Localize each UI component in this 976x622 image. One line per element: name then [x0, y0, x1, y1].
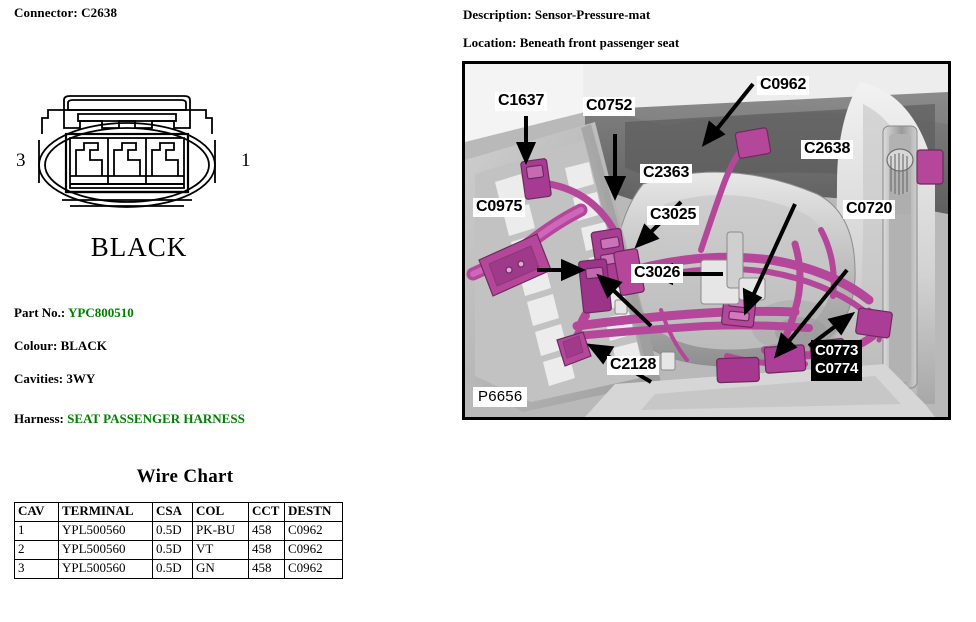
spec-part-no: Part No.: YPC800510 — [14, 305, 134, 321]
cell-csa: 0.5D — [153, 540, 193, 559]
column-header-cav: CAV — [15, 503, 59, 522]
spec-colour-label: Colour: — [14, 338, 57, 353]
photo-callout-c0720: C0720 — [843, 200, 895, 219]
cell-destn: C0962 — [285, 559, 343, 578]
photo-callout-c0774: C0774 — [815, 360, 858, 378]
spec-cavities-label: Cavities: — [14, 371, 63, 386]
table-row: 3 YPL500560 0.5D GN 458 C0962 — [15, 559, 343, 578]
column-header-destn: DESTN — [285, 503, 343, 522]
cell-destn: C0962 — [285, 540, 343, 559]
location-text: Location: Beneath front passenger seat — [463, 35, 679, 50]
photo-callout-c0962: C0962 — [757, 76, 809, 95]
photo-callout-c3026: C3026 — [631, 264, 683, 283]
description-line: Description: Sensor-Pressure-mat — [463, 7, 650, 23]
photo-illustration-svg — [465, 64, 948, 417]
photo-callout-c2363: C2363 — [640, 164, 692, 183]
cell-col: PK-BU — [193, 521, 249, 540]
photo-figure-code: P6656 — [473, 387, 527, 407]
spec-colour-value: BLACK — [61, 338, 107, 353]
photo-callout-c0773: C0773 — [815, 342, 858, 360]
spec-harness: Harness: SEAT PASSENGER HARNESS — [14, 411, 245, 427]
cell-cav: 3 — [15, 559, 59, 578]
spec-colour: Colour: BLACK — [14, 338, 107, 354]
pin-number-1: 1 — [241, 150, 251, 172]
column-header-terminal: TERMINAL — [59, 503, 153, 522]
table-row: 1 YPL500560 0.5D PK-BU 458 C0962 — [15, 521, 343, 540]
spec-cavities-value: 3WY — [66, 371, 95, 386]
connector-drawing-svg — [18, 88, 258, 218]
cell-cct: 458 — [249, 521, 285, 540]
spec-harness-label: Harness: — [14, 411, 64, 426]
cell-cct: 458 — [249, 540, 285, 559]
spec-cavities: Cavities: 3WY — [14, 371, 95, 387]
connector-pinout-diagram — [18, 88, 258, 218]
cell-col: GN — [193, 559, 249, 578]
photo-callout-c2638: C2638 — [801, 140, 853, 159]
cell-destn: C0962 — [285, 521, 343, 540]
spec-part-no-label: Part No.: — [14, 305, 65, 320]
cell-cav: 2 — [15, 540, 59, 559]
photo-callout-c0752: C0752 — [583, 97, 635, 116]
table-row: 2 YPL500560 0.5D VT 458 C0962 — [15, 540, 343, 559]
cell-cav: 1 — [15, 521, 59, 540]
cell-terminal: YPL500560 — [59, 540, 153, 559]
cell-terminal: YPL500560 — [59, 521, 153, 540]
spec-part-no-value: YPC800510 — [68, 305, 134, 320]
location-photo: C1637 C0752 C0962 C2363 C2638 C0975 C302… — [462, 61, 951, 420]
wire-chart-title: Wire Chart — [14, 466, 356, 488]
wire-chart-table: CAV TERMINAL CSA COL CCT DESTN 1 YPL5005… — [14, 502, 343, 579]
connector-colour-caption: BLACK — [0, 232, 278, 263]
photo-callout-c0773-c0774: C0773 C0774 — [811, 340, 862, 381]
photo-callout-c0975: C0975 — [473, 198, 525, 217]
description-text: Description: Sensor-Pressure-mat — [463, 7, 650, 22]
column-header-col: COL — [193, 503, 249, 522]
spec-harness-value: SEAT PASSENGER HARNESS — [67, 411, 245, 426]
column-header-cct: CCT — [249, 503, 285, 522]
connector-title-text: Connector: C2638 — [14, 5, 117, 20]
photo-callout-c3025: C3025 — [647, 206, 699, 225]
cell-csa: 0.5D — [153, 559, 193, 578]
pin-number-3: 3 — [16, 150, 26, 172]
photo-callout-c1637: C1637 — [495, 92, 547, 111]
cell-terminal: YPL500560 — [59, 559, 153, 578]
location-line: Location: Beneath front passenger seat — [463, 35, 679, 51]
cell-cct: 458 — [249, 559, 285, 578]
photo-callout-c2128: C2128 — [607, 356, 659, 375]
cell-csa: 0.5D — [153, 521, 193, 540]
column-header-csa: CSA — [153, 503, 193, 522]
table-header-row: CAV TERMINAL CSA COL CCT DESTN — [15, 503, 343, 522]
photo-image — [465, 64, 948, 417]
cell-col: VT — [193, 540, 249, 559]
connector-title: Connector: C2638 — [14, 5, 117, 21]
